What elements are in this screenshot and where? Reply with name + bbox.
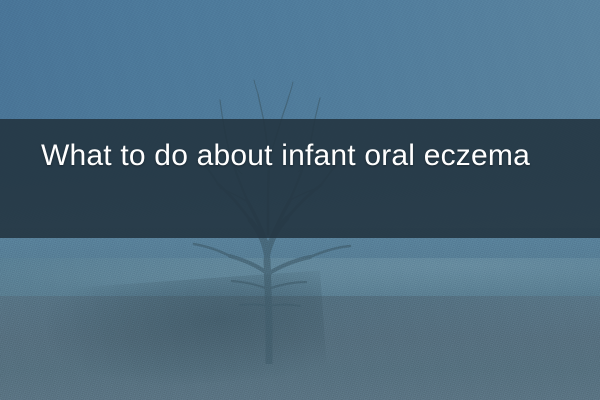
image-card: What to do about infant oral eczema: [0, 0, 600, 400]
sand-texture-overlay: [0, 240, 600, 400]
caption-banner: What to do about infant oral eczema: [0, 119, 600, 238]
caption-title: What to do about infant oral eczema: [41, 135, 580, 177]
